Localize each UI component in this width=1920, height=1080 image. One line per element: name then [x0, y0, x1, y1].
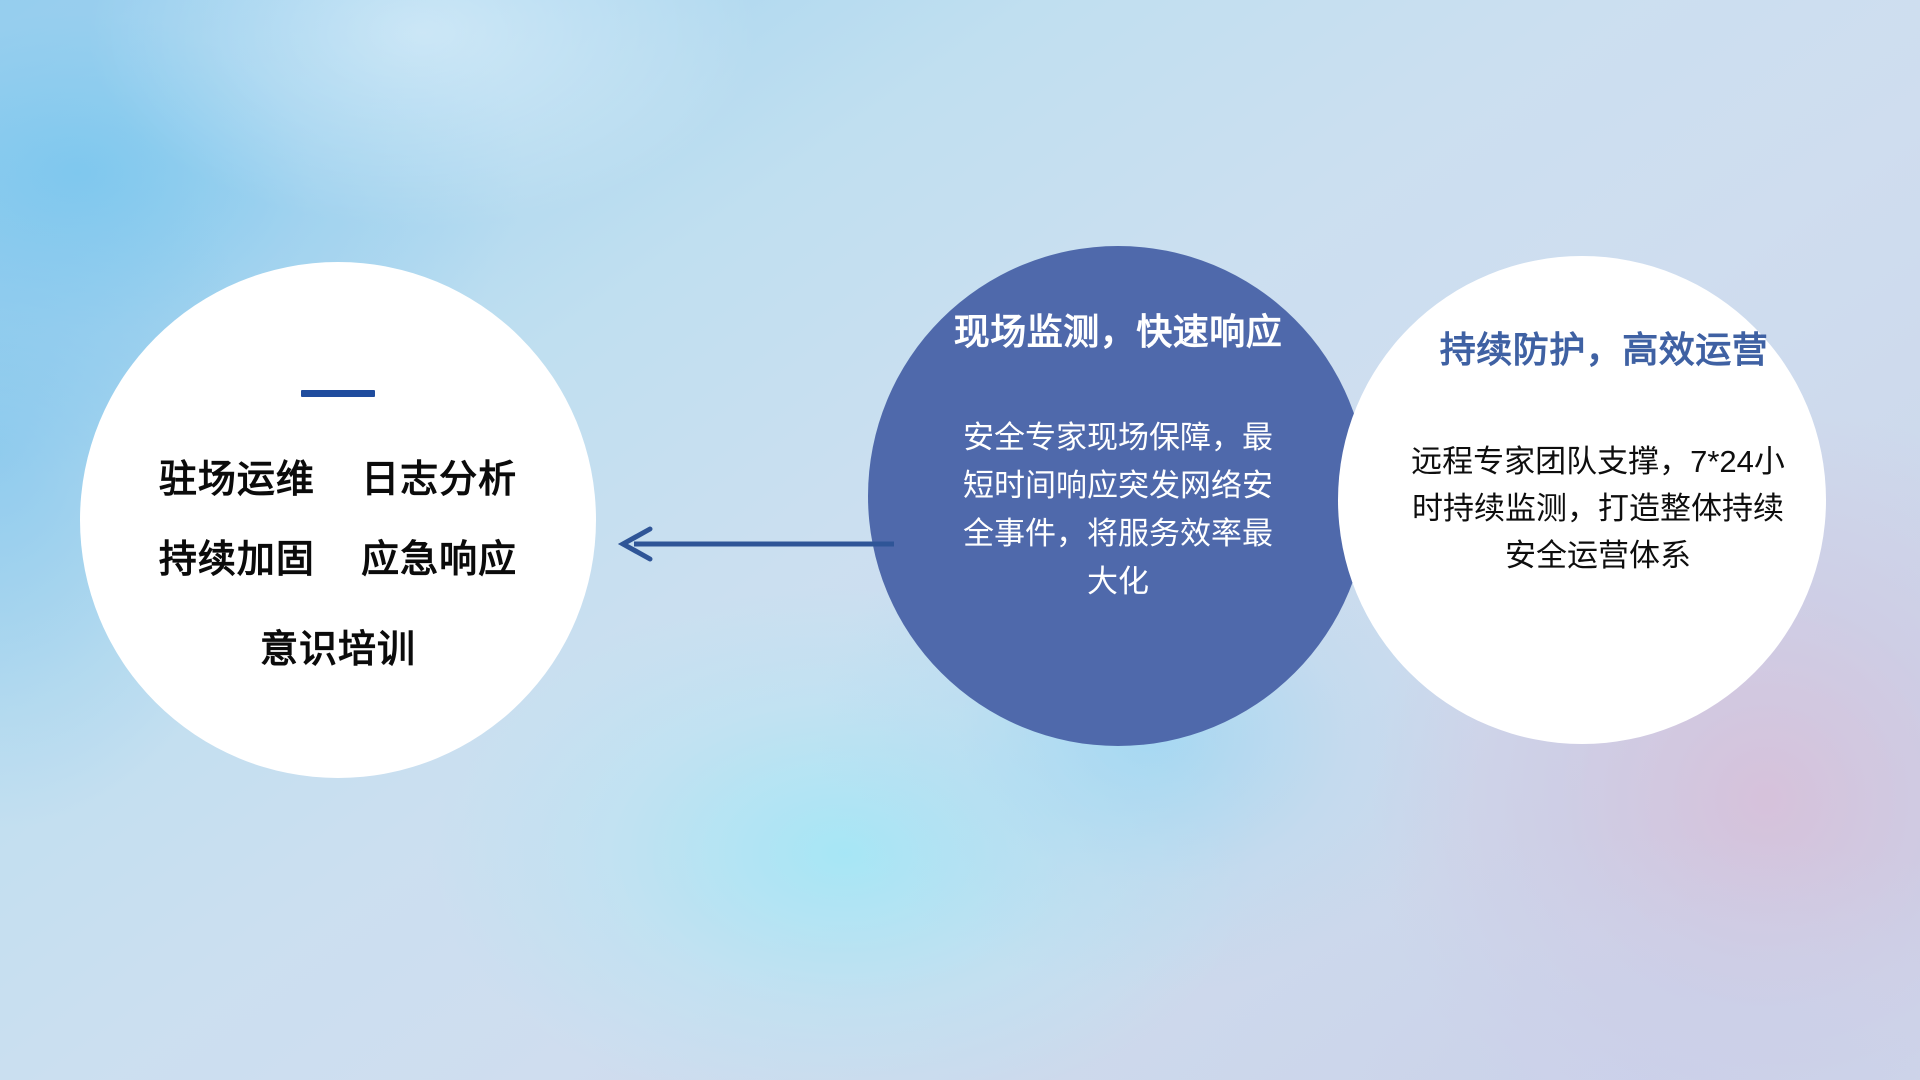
- feature-circle-continuous-title: 持续防护，高效运营: [1440, 330, 1769, 370]
- feature-circle-continuous-body: 远程专家团队支撑，7*24小时持续监测，打造整体持续安全运营体系: [1398, 438, 1798, 579]
- divider-dash-icon: [301, 390, 375, 397]
- capability-line-2: 持续加固 应急响应: [159, 541, 517, 579]
- feature-circle-onsite-title: 现场监测，快速响应: [954, 312, 1283, 352]
- feature-circle-onsite: 现场监测，快速响应 安全专家现场保障，最短时间响应突发网络安全事件，将服务效率最…: [868, 246, 1368, 746]
- feature-circle-continuous: 持续防护，高效运营 远程专家团队支撑，7*24小时持续监测，打造整体持续安全运营…: [1338, 256, 1826, 744]
- slide-canvas: 驻场运维 日志分析 持续加固 应急响应 意识培训 现场监测，快速响应 安全专家现…: [0, 0, 1920, 1080]
- feature-circle-onsite-body: 安全专家现场保障，最短时间响应突发网络安全事件，将服务效率最大化: [957, 414, 1279, 606]
- capability-line-3: 意识培训: [260, 631, 416, 669]
- capability-line-1: 驻场运维 日志分析: [159, 461, 517, 499]
- arrow-left-icon: [608, 516, 896, 572]
- capability-circle-left: 驻场运维 日志分析 持续加固 应急响应 意识培训: [80, 262, 596, 778]
